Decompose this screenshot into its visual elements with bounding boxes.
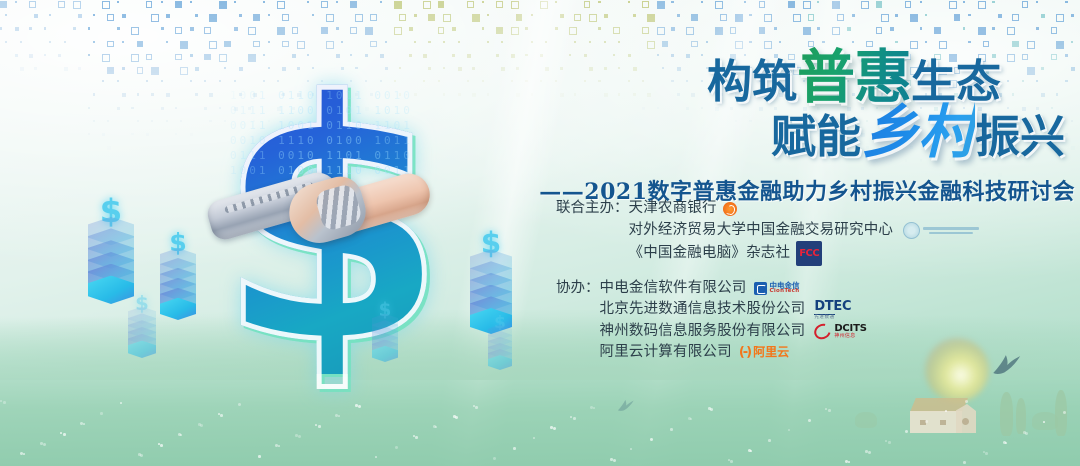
halftone-square <box>1065 1 1067 3</box>
cetc-wordmark-en: CionTech <box>770 289 800 295</box>
halftone-square <box>137 41 144 48</box>
uibe-seal-icon <box>903 222 920 239</box>
title-line-2: 赋能乡村振兴 <box>505 105 1075 164</box>
halftone-square <box>117 80 119 82</box>
halftone-square <box>832 1 840 9</box>
petal-dot <box>318 425 321 428</box>
halftone-square <box>146 54 153 61</box>
credits-block: 联合主办： 天津农商银行 对外经济贸易大学中国金融交易研究中心 <box>556 198 1006 376</box>
title-segment: 构筑 <box>707 55 797 108</box>
halftone-square <box>161 80 163 82</box>
halftone-square <box>146 80 148 82</box>
halftone-square <box>312 14 314 16</box>
halftone-square <box>131 133 133 135</box>
halftone-square <box>93 41 95 43</box>
petal-dot <box>593 407 595 409</box>
halftone-square <box>73 27 76 30</box>
halftone-square <box>73 1 81 9</box>
aliyun-wordmark: 阿里云 <box>753 342 789 364</box>
halftone-square <box>239 14 242 17</box>
wordmark-line <box>929 232 973 234</box>
halftone-square <box>180 120 182 122</box>
aliyun-logo-icon: (-) 阿里云 <box>739 342 789 364</box>
halftone-square <box>496 1 503 8</box>
petal-dot <box>315 424 317 426</box>
petal-dot <box>415 436 418 439</box>
halftone-square <box>161 1 163 3</box>
halftone-square <box>336 1 338 3</box>
halftone-square <box>613 27 620 34</box>
halftone-square <box>29 54 33 58</box>
halftone-square <box>49 41 51 43</box>
petal-dot <box>60 432 62 434</box>
halftone-square <box>122 67 125 70</box>
halftone-square <box>968 14 970 16</box>
halftone-square <box>44 27 46 29</box>
halftone-square <box>511 27 519 35</box>
halftone-square <box>978 27 986 35</box>
halftone-square <box>88 107 90 109</box>
halftone-square <box>920 1 922 3</box>
dtec-logo-icon: DTEC 先进数通 <box>814 300 851 321</box>
halftone-square <box>175 54 182 61</box>
halftone-square <box>992 1 994 3</box>
halftone-square <box>983 41 990 48</box>
halftone-square <box>64 67 68 71</box>
halftone-square <box>817 27 820 30</box>
halftone-square <box>204 27 211 34</box>
credit-group-label: 联合主办： <box>556 198 629 220</box>
credit-row: 中电金信软件有限公司 中电金信 CionTech <box>600 278 867 300</box>
halftone-square <box>560 14 564 18</box>
halftone-square <box>642 27 649 34</box>
halftone-square <box>5 41 7 43</box>
halftone-square <box>253 14 260 21</box>
halftone-square <box>954 14 961 21</box>
house-window <box>940 420 946 425</box>
halftone-square <box>895 14 898 17</box>
conference-banner: $ 1001 0110 1011 0010 0111 1100 0101 101… <box>0 0 1080 466</box>
halftone-square <box>107 14 114 21</box>
halftone-square <box>890 27 894 31</box>
halftone-square <box>482 1 484 3</box>
halftone-square <box>0 27 2 29</box>
halftone-square <box>657 27 665 35</box>
halftone-square <box>458 41 460 43</box>
petal-dot <box>3 401 6 404</box>
halftone-square <box>1036 27 1039 30</box>
halftone-square <box>691 14 698 21</box>
credit-row: 神州数码信息服务股份有限公司 DCITS 神州信息 <box>600 321 867 343</box>
halftone-square <box>146 1 153 8</box>
petal-dot <box>435 426 437 428</box>
halftone-square <box>175 133 177 135</box>
halftone-square <box>117 107 120 110</box>
petal-dot <box>0 400 2 402</box>
halftone-square <box>88 133 90 135</box>
halftone-square <box>832 27 840 35</box>
halftone-square <box>998 14 1002 18</box>
halftone-square <box>29 1 36 8</box>
halftone-square <box>34 14 38 18</box>
tree-shape <box>1032 412 1058 430</box>
halftone-square <box>671 1 673 3</box>
halftone-square <box>706 41 708 43</box>
aliyun-bracket-mark: (-) <box>739 342 750 364</box>
halftone-square <box>1056 41 1064 49</box>
petal-dot <box>788 429 790 431</box>
halftone-square <box>1036 1 1038 3</box>
halftone-square <box>963 27 965 29</box>
petal-dot <box>825 408 827 410</box>
halftone-square <box>20 67 24 71</box>
cetc-wordmark: 中电金信 CionTech <box>770 282 800 295</box>
coin-stack: $ <box>128 292 156 358</box>
house-window <box>962 418 969 425</box>
halftone-square <box>131 107 133 109</box>
petal-dot <box>945 410 947 412</box>
petal-dot <box>630 448 632 450</box>
halftone-square <box>779 41 781 43</box>
halftone-square <box>209 14 217 22</box>
halftone-square <box>487 41 489 43</box>
halftone-square <box>817 1 819 3</box>
halftone-square <box>180 41 188 49</box>
petal-dot <box>180 434 182 436</box>
halftone-square <box>574 41 576 43</box>
halftone-square <box>122 41 124 43</box>
halftone-square <box>102 1 110 9</box>
halftone-square <box>949 1 957 9</box>
halftone-square <box>107 67 114 74</box>
swallow-bird-icon <box>615 397 637 413</box>
halftone-square <box>604 41 606 43</box>
halftone-square <box>137 120 139 122</box>
halftone-square <box>837 14 844 21</box>
halftone-square <box>715 27 723 35</box>
credit-group-organizers: 联合主办： 天津农商银行 对外经济贸易大学中国金融交易研究中心 <box>556 198 1006 266</box>
halftone-square <box>803 27 811 35</box>
halftone-square <box>793 14 801 22</box>
coin-stack-layers <box>488 327 512 370</box>
halftone-square <box>1022 1 1029 8</box>
halftone-square <box>88 27 90 29</box>
halftone-square <box>428 14 435 21</box>
tianjin-rural-commercial-bank-logo-icon <box>723 202 737 216</box>
halftone-square <box>589 41 591 43</box>
halftone-square <box>34 67 37 70</box>
title-line-1: 构筑普惠生态 <box>505 50 1075 109</box>
halftone-square <box>472 14 480 22</box>
halftone-square <box>925 14 927 16</box>
halftone-square <box>190 27 194 31</box>
halftone-square <box>137 93 139 95</box>
coin-stack: $ <box>488 312 512 370</box>
petal-dot <box>513 447 516 450</box>
petal-dot <box>750 450 752 452</box>
halftone-square <box>808 14 815 21</box>
credit-text: 《中国金融电脑》杂志社 <box>629 243 791 265</box>
petal-dot <box>375 456 377 458</box>
halftone-square <box>934 27 941 34</box>
halftone-square <box>540 1 548 9</box>
halftone-square <box>744 1 746 3</box>
petal-dot <box>160 444 163 447</box>
halftone-square <box>633 14 636 17</box>
halftone-square <box>749 41 751 43</box>
halftone-square <box>409 27 413 31</box>
halftone-square <box>151 67 159 75</box>
halftone-square <box>190 80 192 82</box>
halftone-square <box>64 41 66 43</box>
halftone-square <box>414 14 417 17</box>
petal-dot <box>768 439 771 442</box>
halftone-square <box>380 1 382 3</box>
halftone-square <box>803 1 811 9</box>
halftone-square <box>93 14 95 16</box>
halftone-square <box>93 93 95 95</box>
halftone-square <box>195 14 198 17</box>
credit-text: 天津农商银行 <box>629 198 717 220</box>
halftone-square <box>847 27 851 31</box>
coin-stack-layers <box>372 316 398 362</box>
halftone-square <box>920 27 922 29</box>
petal-dot <box>1043 421 1045 423</box>
halftone-square <box>604 14 608 18</box>
halftone-square <box>151 14 159 22</box>
wordmark-line <box>923 227 979 230</box>
credit-text: 中电金信软件有限公司 <box>600 278 747 300</box>
halftone-square <box>963 1 965 3</box>
halftone-square <box>190 54 193 57</box>
halftone-square <box>44 54 46 56</box>
halftone-square <box>545 41 547 43</box>
halftone-square <box>584 1 591 8</box>
halftone-square <box>876 27 883 34</box>
halftone-square <box>735 14 743 22</box>
halftone-square <box>555 1 557 3</box>
dtec-subtext: 先进数通 <box>814 314 834 321</box>
petal-dot <box>258 455 261 458</box>
coin-stack-layers <box>128 309 156 358</box>
uibe-research-center-logo-icon <box>903 222 979 239</box>
credit-row: 天津农商银行 <box>629 198 980 220</box>
halftone-square <box>175 1 182 8</box>
halftone-square <box>151 120 153 122</box>
credit-text: 对外经济贸易大学中国金融交易研究中心 <box>629 220 894 242</box>
credit-group-label: 协办： <box>556 278 600 300</box>
credit-group-co-organizers: 协办： 中电金信软件有限公司 中电金信 CionTech 北京先进数通信息技术股… <box>556 278 1006 364</box>
halftone-square <box>58 1 65 8</box>
halftone-square <box>788 1 795 8</box>
credit-text: 北京先进数通信息技术股份公司 <box>600 299 806 321</box>
halftone-square <box>764 41 772 49</box>
dcits-logo-icon: DCITS 神州信息 <box>814 324 866 339</box>
petal-dot <box>670 428 673 431</box>
petal-dot <box>925 420 928 423</box>
credit-group-lines: 中电金信软件有限公司 中电金信 CionTech 北京先进数通信息技术股份公司 … <box>600 278 867 364</box>
halftone-square <box>939 41 947 49</box>
halftone-square <box>15 54 18 57</box>
halftone-square <box>166 41 168 43</box>
halftone-square <box>180 67 188 75</box>
halftone-square <box>516 14 523 21</box>
halftone-square <box>467 54 471 58</box>
halftone-square <box>131 54 139 62</box>
halftone-square <box>1071 41 1073 43</box>
petal-dot <box>848 461 850 463</box>
halftone-square <box>978 1 986 9</box>
fcc-wordmark: FCC <box>799 243 819 265</box>
halftone-square <box>102 54 110 62</box>
tree-shape <box>855 412 877 428</box>
halftone-square <box>1027 41 1035 49</box>
halftone-square <box>107 120 109 122</box>
credit-row: 北京先进数通信息技术股份公司 DTEC 先进数通 <box>600 299 867 321</box>
halftone-square <box>175 27 182 34</box>
halftone-square <box>647 41 655 49</box>
halftone-square <box>93 120 95 122</box>
halftone-square <box>190 1 192 3</box>
halftone-square <box>642 1 649 8</box>
tree-shape <box>1016 398 1026 434</box>
halftone-square <box>647 14 655 22</box>
halftone-square <box>910 41 918 49</box>
halftone-square <box>175 107 177 109</box>
tree-shape <box>1000 392 1013 436</box>
halftone-square <box>531 14 533 16</box>
dtec-wordmark: DTEC <box>814 300 851 313</box>
halftone-square <box>598 27 601 30</box>
halftone-square <box>350 1 357 8</box>
halftone-square <box>166 93 170 97</box>
credit-text: 阿里云计算有限公司 <box>600 342 732 364</box>
halftone-square <box>525 27 527 29</box>
halftone-square <box>307 1 309 3</box>
halftone-square <box>137 67 144 74</box>
halftone-square <box>399 14 406 21</box>
halftone-square <box>852 14 855 17</box>
halftone-square <box>720 14 727 21</box>
halftone-square <box>234 1 236 3</box>
halftone-square <box>166 14 170 18</box>
petal-dot <box>570 416 572 418</box>
credit-row: 阿里云计算有限公司 (-) 阿里云 <box>600 342 867 364</box>
halftone-square <box>701 1 703 3</box>
title-segment: 赋能 <box>771 110 861 163</box>
halftone-square <box>166 120 168 122</box>
halftone-square <box>774 27 777 30</box>
halftone-square <box>209 41 217 49</box>
halftone-square <box>569 27 577 35</box>
halftone-square <box>482 27 484 29</box>
halftone-square <box>968 41 970 43</box>
halftone-square <box>336 27 339 30</box>
halftone-square <box>438 1 445 8</box>
coin-stack-layers <box>160 250 196 320</box>
halftone-square <box>1041 14 1045 18</box>
halftone-square <box>117 27 120 30</box>
halftone-square <box>531 41 533 43</box>
petal-dot <box>120 402 122 404</box>
title-segment-highlight: 乡村 <box>861 98 975 166</box>
halftone-square <box>881 14 889 22</box>
halftone-square <box>190 133 193 136</box>
halftone-square <box>1056 14 1064 22</box>
halftone-square <box>1071 14 1074 17</box>
petal-dot <box>533 437 535 439</box>
halftone-square <box>268 14 270 16</box>
halftone-square <box>326 14 334 22</box>
halftone-square <box>122 93 126 97</box>
halftone-square <box>370 14 377 21</box>
credit-row: 对外经济贸易大学中国金融交易研究中心 <box>629 220 980 242</box>
uibe-wordmark <box>923 227 979 234</box>
title-segment: 振兴 <box>975 110 1065 163</box>
petal-dot <box>63 433 66 436</box>
halftone-square <box>1012 14 1019 21</box>
petal-dot <box>963 461 966 464</box>
petal-dot <box>23 453 25 455</box>
coin-stack: $ <box>88 192 134 304</box>
halftone-square <box>58 54 61 57</box>
halftone-square <box>589 14 597 22</box>
petal-dot <box>278 445 280 447</box>
halftone-square <box>5 14 7 16</box>
halftone-square <box>671 27 675 31</box>
halftone-square <box>764 14 772 22</box>
halftone-square <box>1051 27 1058 34</box>
halftone-square <box>992 27 995 30</box>
halftone-square <box>501 41 503 43</box>
halftone-square <box>102 80 104 82</box>
halftone-square <box>355 14 363 22</box>
halftone-square <box>394 1 402 9</box>
halftone-square <box>759 1 766 8</box>
dcits-wordmark: DCITS 神州信息 <box>834 324 866 339</box>
halftone-square <box>20 41 22 43</box>
petal-dot <box>475 406 478 409</box>
petal-dot <box>985 452 988 455</box>
banner-title-block: 构筑普惠生态 赋能乡村振兴 ——2021数字普惠金融助力乡村振兴金融科技研讨会 <box>505 50 1075 206</box>
halftone-square <box>107 146 111 150</box>
halftone-square <box>905 1 912 8</box>
halftone-square <box>715 1 723 9</box>
halftone-square <box>219 1 227 9</box>
halftone-square <box>735 41 743 49</box>
cetc-mark-icon <box>754 282 767 295</box>
halftone-square <box>496 54 499 57</box>
halftone-square <box>677 14 680 17</box>
dcits-subtext: 神州信息 <box>834 334 866 339</box>
halftone-square <box>657 1 665 9</box>
petal-dot <box>828 409 831 412</box>
halftone-square <box>234 27 238 31</box>
halftone-square <box>1012 41 1019 48</box>
halftone-square <box>282 14 289 21</box>
halftone-square <box>686 27 694 35</box>
halftone-square <box>117 1 119 3</box>
halftone-square <box>730 27 737 34</box>
halftone-square <box>78 67 81 70</box>
coin-stack: $ <box>372 300 398 362</box>
halftone-square <box>161 27 164 30</box>
halftone-square <box>618 41 620 43</box>
halftone-square <box>925 41 927 43</box>
dollar-handshake-emblem: $ 1001 0110 1011 0010 0111 1100 0101 101… <box>196 66 516 386</box>
halftone-square <box>662 41 669 48</box>
halftone-square <box>49 14 51 16</box>
